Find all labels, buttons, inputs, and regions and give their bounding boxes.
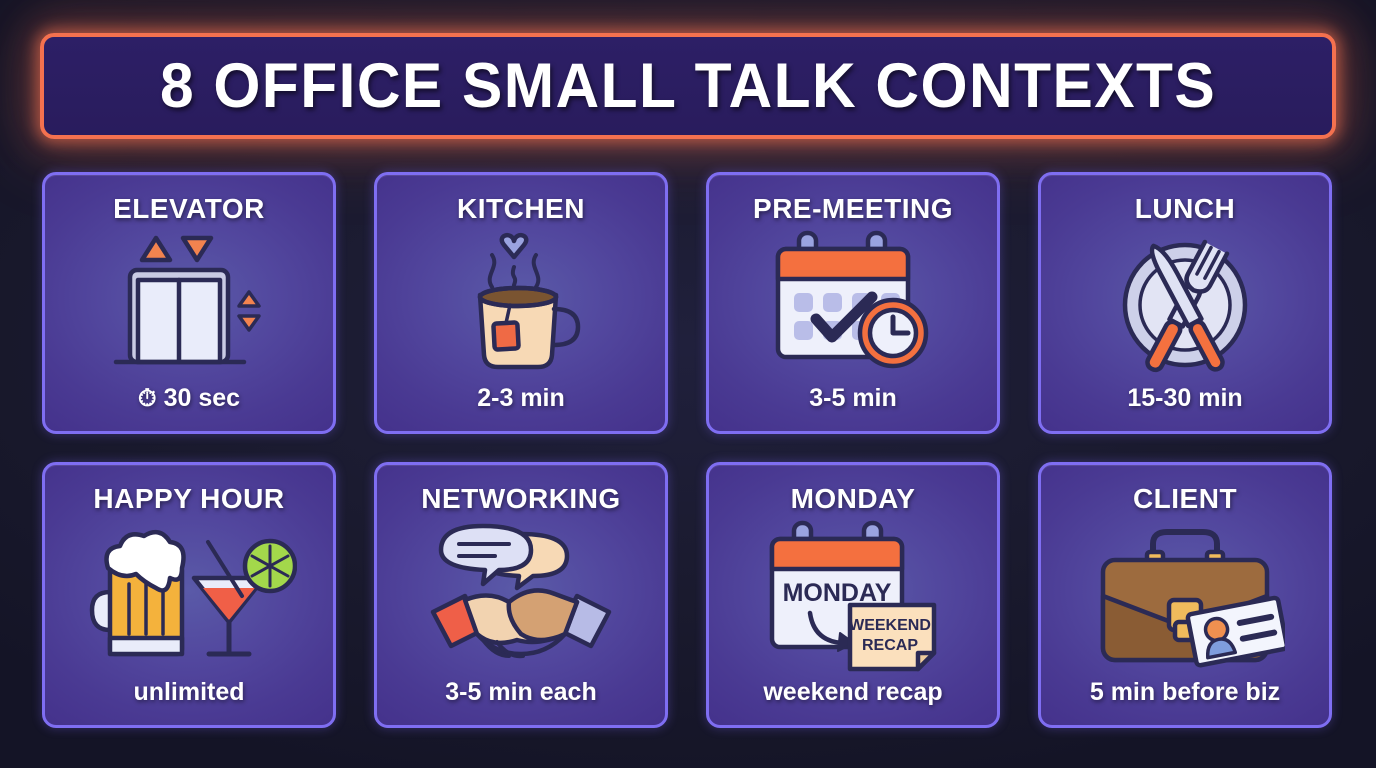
card-caption: weekend recap [763, 680, 942, 705]
card-caption: unlimited [133, 680, 244, 705]
card-pre-meeting[interactable]: PRE-MEETING [706, 172, 1000, 434]
note-line2: RECAP [861, 637, 917, 654]
card-title: CLIENT [1133, 485, 1237, 513]
card-caption: 2-3 min [477, 386, 565, 411]
coffee-mug-icon [377, 223, 665, 386]
card-title: MONDAY [791, 485, 916, 513]
card-caption-text: 5 min before biz [1090, 680, 1280, 705]
card-happy-hour[interactable]: HAPPY HOUR [42, 462, 336, 728]
card-caption: 5 min before biz [1090, 680, 1280, 705]
beer-cocktail-icon [45, 513, 333, 680]
card-caption-text: unlimited [133, 680, 244, 705]
card-networking[interactable]: NETWORKING [374, 462, 668, 728]
card-caption-text: 3-5 min [809, 386, 897, 411]
infographic-poster: 8 OFFICE SMALL TALK CONTEXTS ELEVATOR [0, 0, 1376, 768]
note-line1: WEEKEND [849, 617, 931, 634]
elevator-icon [45, 223, 333, 386]
card-lunch[interactable]: LUNCH [1038, 172, 1332, 434]
page-title: 8 OFFICE SMALL TALK CONTEXTS [160, 50, 1216, 122]
card-title: HAPPY HOUR [93, 485, 284, 513]
card-caption-text: 3-5 min each [445, 680, 596, 705]
card-title: ELEVATOR [113, 195, 265, 223]
card-caption: 3-5 min each [445, 680, 596, 705]
card-title: PRE-MEETING [753, 195, 953, 223]
card-title: NETWORKING [421, 485, 620, 513]
card-kitchen[interactable]: KITCHEN [374, 172, 668, 434]
card-caption-text: 15-30 min [1127, 386, 1242, 411]
calendar-clock-icon [709, 223, 997, 386]
card-caption: ⏱ 30 sec [138, 386, 240, 411]
card-elevator[interactable]: ELEVATOR ⏱ 30 sec [42, 172, 336, 434]
card-caption: 3-5 min [809, 386, 897, 411]
title-banner: 8 OFFICE SMALL TALK CONTEXTS [40, 33, 1336, 139]
briefcase-card-icon [1041, 513, 1329, 680]
card-client[interactable]: CLIENT [1038, 462, 1332, 728]
card-caption-text: 2-3 min [477, 386, 565, 411]
card-title: KITCHEN [457, 195, 585, 223]
calendar-sticky-note-icon: MONDAY WEEKEND RECAP [709, 513, 997, 680]
handshake-speech-icon [377, 513, 665, 680]
card-caption: 15-30 min [1127, 386, 1242, 411]
plate-fork-knife-icon [1041, 223, 1329, 386]
stopwatch-icon: ⏱ [138, 387, 157, 411]
card-caption-text: 30 sec [164, 386, 240, 411]
card-grid: ELEVATOR ⏱ 30 sec [42, 172, 1334, 734]
card-caption-text: weekend recap [763, 680, 942, 705]
card-title: LUNCH [1135, 195, 1236, 223]
card-monday[interactable]: MONDAY MONDAY WEEKEND [706, 462, 1000, 728]
